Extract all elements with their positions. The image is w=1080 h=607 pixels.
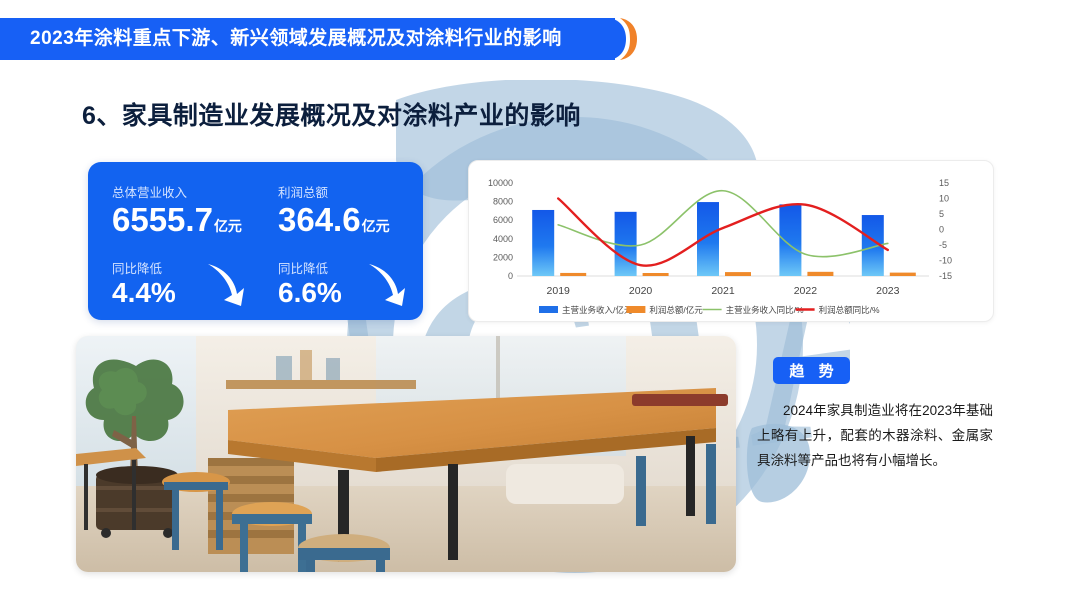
arrow-down-icon xyxy=(204,260,250,310)
chart-ytick-right: -10 xyxy=(939,256,952,266)
kpi-revenue: 总体营业收入 6555.7亿元 xyxy=(112,182,242,244)
kpi-profit-delta-label: 同比降低 xyxy=(278,258,342,277)
chart-ytick-right: 0 xyxy=(939,225,944,235)
chart-ytick-left: 4000 xyxy=(493,234,513,244)
legend-swatch xyxy=(626,306,645,313)
legend-label: 利润总额同比/% xyxy=(819,305,880,315)
kpi-revenue-delta-value: 4.4% xyxy=(112,278,176,308)
chart-bar-revenue xyxy=(532,210,554,276)
kpi-profit: 利润总额 364.6亿元 xyxy=(278,182,390,244)
kpi-revenue-unit: 亿元 xyxy=(214,218,242,234)
chart-bar-profit xyxy=(725,272,751,276)
header-accent-tail-icon xyxy=(606,18,646,60)
arrow-down-icon xyxy=(365,260,411,310)
slide: 2023年涂料重点下游、新兴领域发展概况及对涂料行业的影响 6、家具制造业发展概… xyxy=(0,0,1080,607)
chart-bar-profit xyxy=(643,273,669,276)
chart-xtick: 2019 xyxy=(547,285,571,297)
furniture-showroom-photo xyxy=(76,336,736,572)
chart-lines xyxy=(558,191,888,266)
legend-swatch xyxy=(539,306,558,313)
chart-bar-revenue xyxy=(779,204,801,276)
chart-xtick: 2023 xyxy=(876,285,900,297)
trend-description: 2024年家具制造业将在2023年基础上略有上升，配套的木器涂料、金属家具涂料等… xyxy=(757,398,993,473)
chart-ytick-left: 6000 xyxy=(493,215,513,225)
chart-ytick-right: 5 xyxy=(939,209,944,219)
kpi-revenue-number: 6555.7 xyxy=(112,201,213,238)
chart-category-labels: 20192020202120222023 xyxy=(547,285,900,297)
kpi-profit-label: 利润总额 xyxy=(278,182,390,201)
kpi-revenue-delta-label: 同比降低 xyxy=(112,258,176,277)
kpi-profit-value: 364.6亿元 xyxy=(278,202,390,244)
kpi-card: 总体营业收入 6555.7亿元 利润总额 364.6亿元 同比降低 4.4% 同… xyxy=(88,162,423,320)
chart-ytick-left: 2000 xyxy=(493,252,513,262)
chart-bar-profit xyxy=(807,272,833,276)
chart-bars xyxy=(532,202,916,276)
chart-bar-profit xyxy=(560,273,586,276)
kpi-revenue-value: 6555.7亿元 xyxy=(112,202,242,244)
kpi-revenue-label: 总体营业收入 xyxy=(112,182,242,201)
page-title: 6、家具制造业发展概况及对涂料产业的影响 xyxy=(82,96,581,132)
chart-legend: 主营业务收入/亿元利润总额/亿元主营业务收入同比/%利润总额同比/% xyxy=(539,305,880,315)
chart-ytick-right: 15 xyxy=(939,178,949,188)
kpi-profit-number: 364.6 xyxy=(278,201,361,238)
photo-illustration xyxy=(76,336,736,572)
chart-axis-right: 151050-5-10-15 xyxy=(939,178,952,281)
chart-ytick-left: 10000 xyxy=(488,178,513,188)
trend-badge: 趋 势 xyxy=(773,357,850,384)
kpi-revenue-delta: 同比降低 4.4% xyxy=(112,258,176,308)
chart-xtick: 2021 xyxy=(711,285,735,297)
chart-ytick-left: 8000 xyxy=(493,197,513,207)
chart-ytick-left: 0 xyxy=(508,271,513,281)
chart-ytick-right: -5 xyxy=(939,240,947,250)
legend-label: 利润总额/亿元 xyxy=(649,305,703,315)
chart-axis-left: 0200040006000800010000 xyxy=(488,178,513,281)
chart-ytick-right: 10 xyxy=(939,194,949,204)
combo-chart: 0200040006000800010000 151050-5-10-15 20… xyxy=(469,161,993,321)
chart-bar-profit xyxy=(890,273,916,276)
legend-label: 主营业务收入/亿元 xyxy=(562,305,633,315)
kpi-profit-delta-value: 6.6% xyxy=(278,278,342,308)
chart-xtick: 2020 xyxy=(629,285,653,297)
kpi-profit-delta: 同比降低 6.6% xyxy=(278,258,342,308)
chart-card: 0200040006000800010000 151050-5-10-15 20… xyxy=(468,160,994,322)
chart-xtick: 2022 xyxy=(794,285,818,297)
header-title: 2023年涂料重点下游、新兴领域发展概况及对涂料行业的影响 xyxy=(30,18,562,60)
legend-label: 主营业务收入同比/% xyxy=(726,305,804,315)
kpi-profit-unit: 亿元 xyxy=(362,218,390,234)
chart-ytick-right: -15 xyxy=(939,271,952,281)
